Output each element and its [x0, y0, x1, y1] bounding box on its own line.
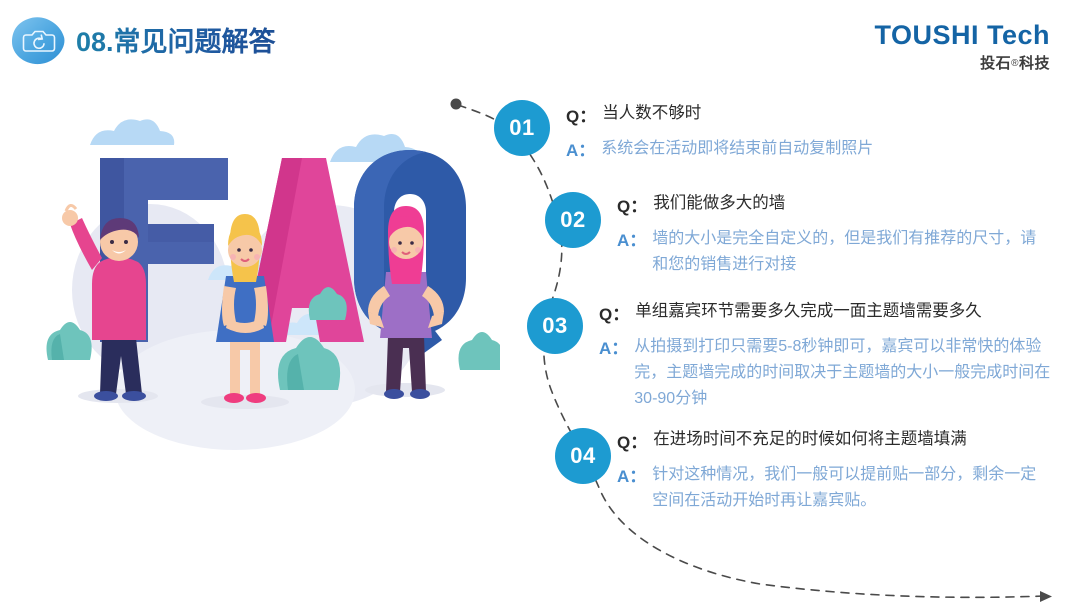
- faq-content-04: Q： 在进场时间不充足的时候如何将主题墙填满 A： 针对这种情况，我们一般可以提…: [617, 428, 1047, 514]
- brand-logo: TOUSHI Tech 投石®科技: [874, 21, 1050, 73]
- brand-name-cn: 投石®科技: [874, 52, 1050, 73]
- faq-content-03: Q： 单组嘉宾环节需要多久完成一面主题墙需要多久 A： 从拍摄到打印只需要5-8…: [599, 300, 1051, 412]
- brand-cn-prefix: 投石: [980, 55, 1011, 72]
- slide-root: 08.常见问题解答 TOUSHI Tech 投石®科技: [0, 0, 1080, 611]
- answer-label: A：: [617, 462, 646, 487]
- answer-text: 墙的大小是完全自定义的，但是我们有推荐的尺寸，请和您的销售进行对接: [652, 226, 1037, 278]
- answer-label: A：: [599, 334, 628, 359]
- question-label: Q：: [599, 300, 629, 325]
- faq-number-badge-03: 03: [527, 298, 583, 354]
- question-text: 在进场时间不充足的时候如何将主题墙填满: [653, 428, 967, 452]
- brand-name-en: TOUSHI Tech: [874, 21, 1050, 49]
- question-text: 当人数不够时: [602, 102, 701, 126]
- brand-cn-suffix: 科技: [1019, 55, 1050, 72]
- answer-row-03: A： 从拍摄到打印只需要5-8秒钟即可，嘉宾可以非常快的体验完，主题墙完成的时间…: [599, 334, 1051, 412]
- answer-label: A：: [617, 226, 646, 251]
- question-text: 单组嘉宾环节需要多久完成一面主题墙需要多久: [635, 300, 982, 324]
- answer-label: A：: [566, 136, 595, 161]
- faq-content-02: Q： 我们能做多大的墙 A： 墙的大小是完全自定义的，但是我们有推荐的尺寸，请和…: [617, 192, 1037, 278]
- question-row-02: Q： 我们能做多大的墙: [617, 192, 1037, 217]
- question-row-03: Q： 单组嘉宾环节需要多久完成一面主题墙需要多久: [599, 300, 1051, 325]
- question-label: Q：: [617, 428, 647, 453]
- question-text: 我们能做多大的墙: [653, 192, 785, 216]
- registered-mark: ®: [1011, 58, 1019, 69]
- answer-text: 系统会在活动即将结束前自动复制照片: [601, 136, 873, 162]
- question-row-04: Q： 在进场时间不充足的时候如何将主题墙填满: [617, 428, 1047, 453]
- answer-row-02: A： 墙的大小是完全自定义的，但是我们有推荐的尺寸，请和您的销售进行对接: [617, 226, 1037, 278]
- faq-number-badge-04: 04: [555, 428, 611, 484]
- path-end-arrow: [1040, 591, 1052, 602]
- answer-text: 从拍摄到打印只需要5-8秒钟即可，嘉宾可以非常快的体验完，主题墙完成的时间取决于…: [634, 334, 1051, 412]
- question-row-01: Q： 当人数不够时: [566, 102, 996, 127]
- slide-header: 08.常见问题解答 TOUSHI Tech 投石®科技: [0, 0, 1080, 82]
- page-title: 08.常见问题解答: [76, 20, 276, 59]
- question-label: Q：: [566, 102, 596, 127]
- faq-number-badge-01: 01: [494, 100, 550, 156]
- question-label: Q：: [617, 192, 647, 217]
- faq-content-01: Q： 当人数不够时 A： 系统会在活动即将结束前自动复制照片: [566, 102, 996, 162]
- answer-text: 针对这种情况，我们一般可以提前贴一部分，剩余一定空间在活动开始时再让嘉宾贴。: [652, 462, 1047, 514]
- answer-row-01: A： 系统会在活动即将结束前自动复制照片: [566, 136, 996, 162]
- faq-number-badge-02: 02: [545, 192, 601, 248]
- answer-row-04: A： 针对这种情况，我们一般可以提前贴一部分，剩余一定空间在活动开始时再让嘉宾贴…: [617, 462, 1047, 514]
- camera-refresh-icon: [10, 15, 68, 67]
- faq-people-illustration: [30, 90, 500, 520]
